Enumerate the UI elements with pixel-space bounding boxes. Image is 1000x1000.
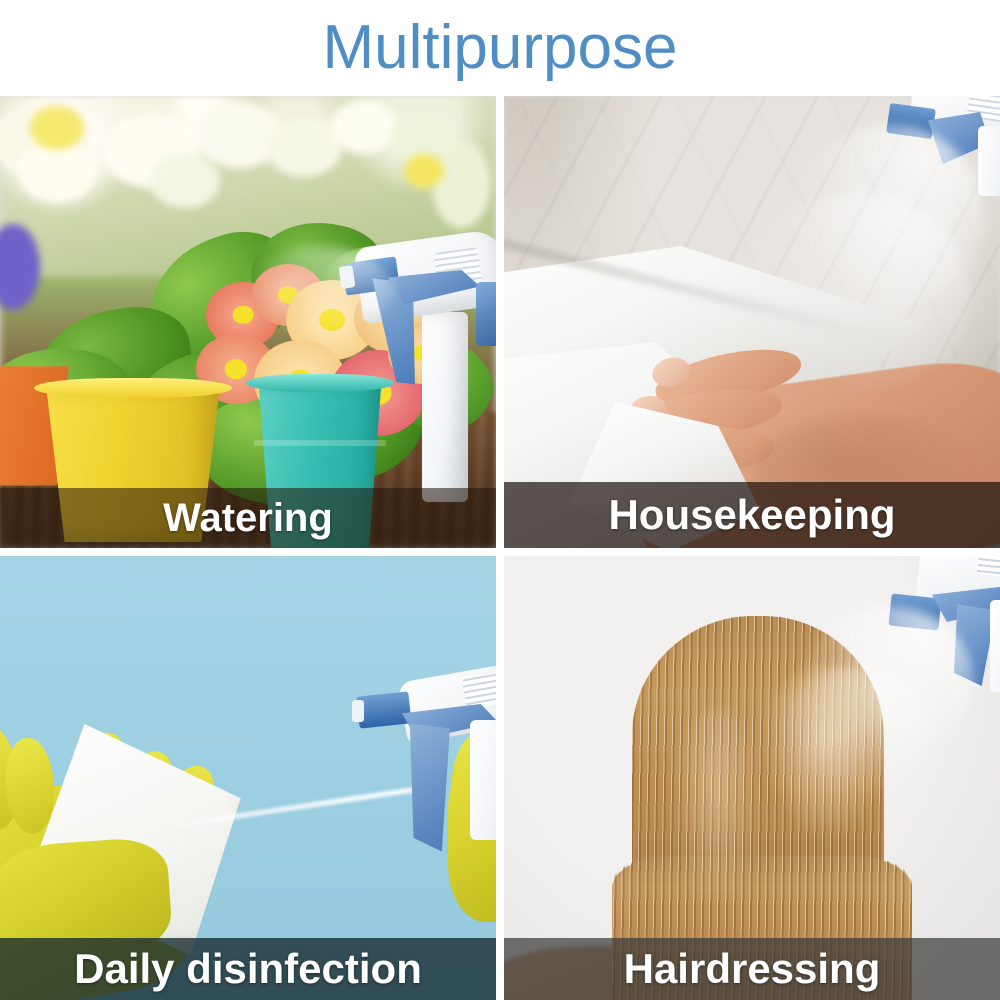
nozzle-icon — [356, 691, 411, 728]
scene-watering — [0, 96, 496, 548]
panel-hairdressing[interactable]: Hairdressing — [504, 556, 1000, 1000]
panel-watering[interactable]: Watering — [0, 96, 496, 548]
spray-bottle — [352, 662, 496, 872]
bottle-body — [470, 720, 496, 840]
spray-mist — [244, 246, 394, 336]
use-case-grid: Watering — [0, 96, 1000, 1000]
infographic-root: Multipurpose — [0, 0, 1000, 1000]
blossom — [404, 154, 444, 188]
title-bar: Multipurpose — [0, 0, 1000, 96]
blossom — [196, 102, 282, 168]
page-title: Multipurpose — [323, 17, 678, 79]
caption-housekeeping: Housekeeping — [504, 482, 1000, 548]
panel-housekeeping[interactable]: Housekeeping — [504, 96, 1000, 548]
blossom — [30, 106, 84, 150]
caption-hairdressing: Hairdressing — [504, 938, 1000, 1000]
scene-hairdressing — [504, 556, 1000, 1000]
blossom — [150, 154, 220, 208]
blossom — [432, 140, 490, 228]
nozzle-tip — [352, 700, 364, 722]
trigger — [406, 721, 459, 854]
spray-mist — [740, 192, 970, 392]
bottle-body — [422, 312, 468, 502]
caption-daily-disinfection: Daily disinfection — [0, 938, 496, 1000]
spray-mist — [784, 666, 934, 796]
bottle-body — [990, 600, 1000, 692]
caption-text: Daily disinfection — [74, 948, 422, 990]
blossom — [330, 100, 398, 154]
hair-highlight — [672, 706, 762, 906]
caption-text: Housekeeping — [608, 494, 895, 536]
bottle-cap — [476, 282, 496, 346]
bottle-body — [978, 126, 1000, 196]
yellow-pot-rim — [34, 378, 232, 398]
caption-text: Hairdressing — [624, 948, 881, 990]
scene-housekeeping — [504, 96, 1000, 548]
head-ribs — [462, 673, 496, 709]
panel-daily-disinfection[interactable]: Daily disinfection — [0, 556, 496, 1000]
caption-watering: Watering — [0, 488, 496, 548]
caption-text: Watering — [163, 498, 333, 538]
scene-disinfection — [0, 556, 496, 1000]
